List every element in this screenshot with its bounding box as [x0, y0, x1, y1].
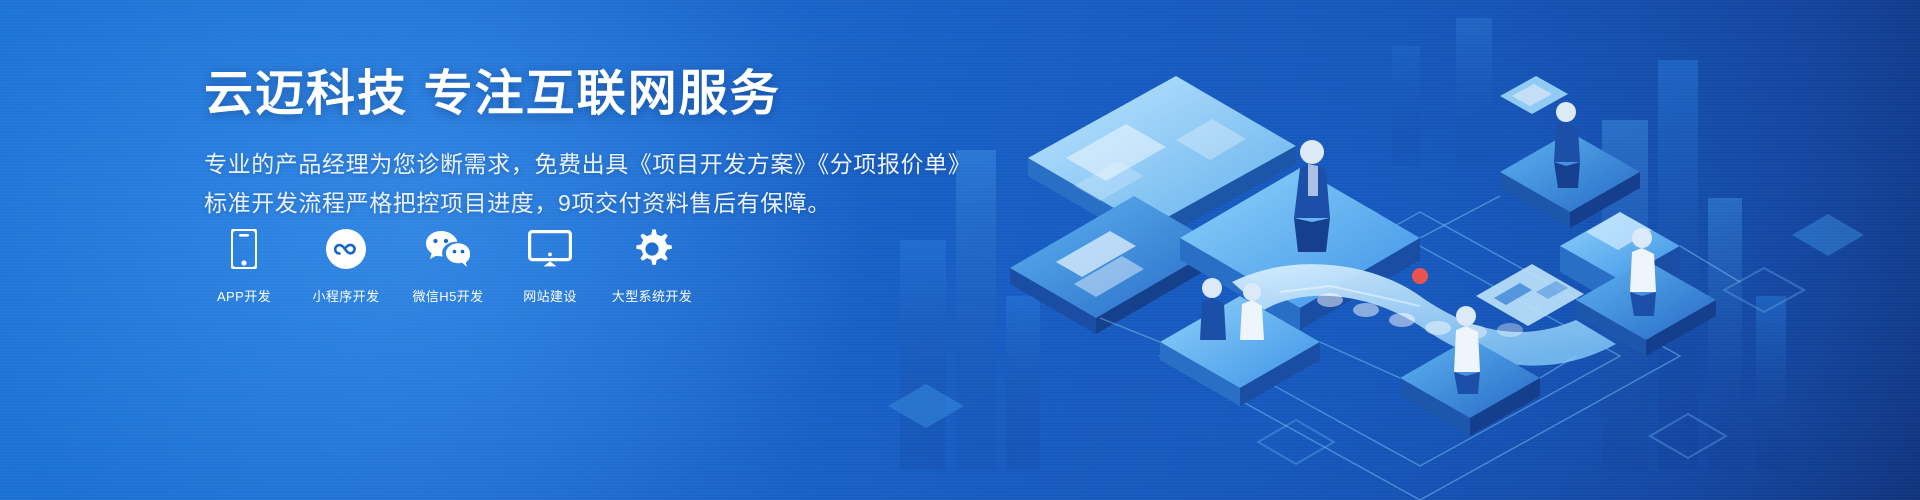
hero-banner: 云迈科技 专注互联网服务 专业的产品经理为您诊断需求，免费出具《项目开发方案》《…: [0, 0, 1920, 500]
service-item-website[interactable]: 网站建设: [510, 228, 590, 305]
service-item-app[interactable]: APP开发: [204, 228, 284, 305]
isometric-illustration: [860, 0, 1920, 500]
page-title: 云迈科技 专注互联网服务: [204, 66, 971, 124]
service-item-large-system[interactable]: 大型系统开发: [612, 228, 692, 305]
wechat-icon: [424, 228, 472, 270]
banner-copy: 云迈科技 专注互联网服务 专业的产品经理为您诊断需求，免费出具《项目开发方案》《…: [204, 66, 971, 223]
service-label: APP开发: [217, 286, 271, 305]
subcopy-line-2: 标准开发流程严格把控项目进度，9项交付资料售后有保障。: [204, 184, 971, 223]
service-label: 大型系统开发: [612, 286, 692, 305]
service-list: APP开发 小程序开发 微信: [204, 228, 692, 305]
mobile-phone-icon: [231, 228, 257, 270]
service-item-mini-program[interactable]: 小程序开发: [306, 228, 386, 305]
gear-icon: [631, 228, 673, 270]
mini-program-icon: [326, 228, 366, 270]
banner-subcopy: 专业的产品经理为您诊断需求，免费出具《项目开发方案》《分项报价单》 标准开发流程…: [204, 145, 971, 223]
service-label: 网站建设: [523, 286, 577, 305]
monitor-icon: [528, 228, 572, 270]
subcopy-line-1: 专业的产品经理为您诊断需求，免费出具《项目开发方案》《分项报价单》: [204, 145, 971, 184]
service-label: 小程序开发: [312, 286, 379, 305]
service-item-wechat-h5[interactable]: 微信H5开发: [408, 228, 488, 305]
service-label: 微信H5开发: [412, 286, 483, 305]
